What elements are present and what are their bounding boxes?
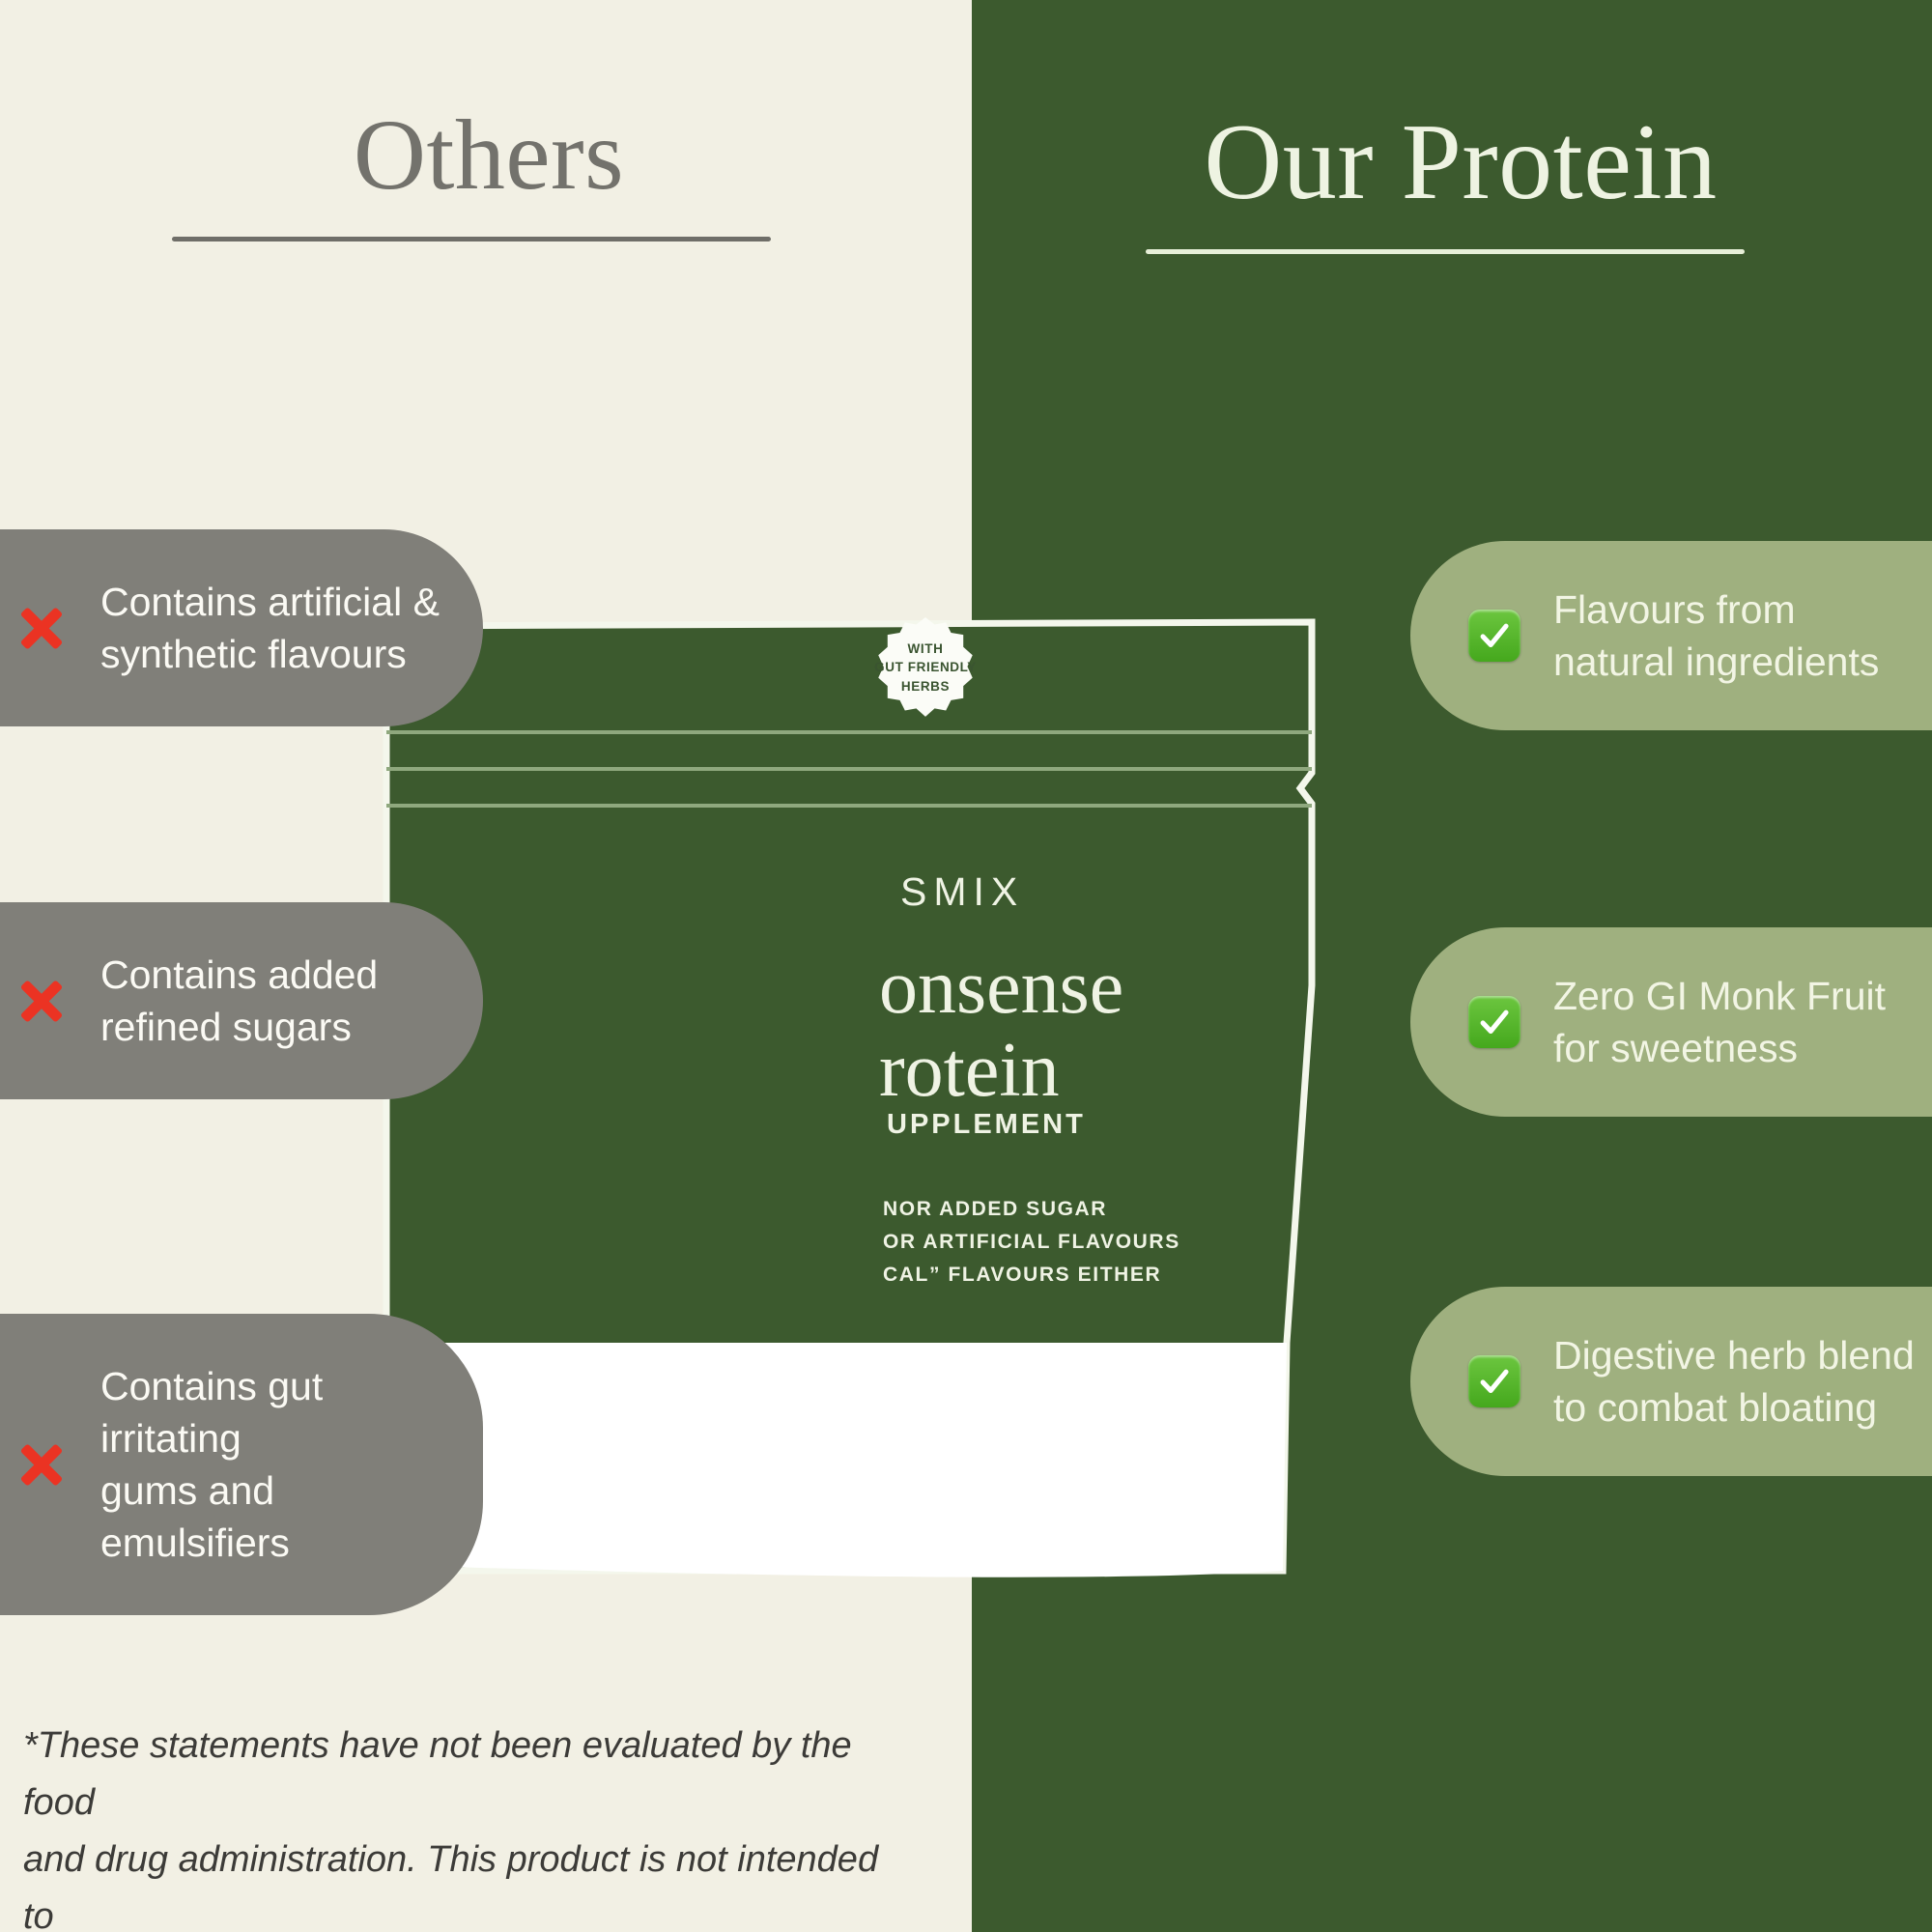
gut-friendly-herbs-badge: WITH GUT FRIENDLY HERBS: [874, 616, 977, 719]
left-feature-label-1: Contains artificial & synthetic flavours: [100, 576, 440, 680]
cross-icon: [14, 601, 68, 655]
pouch-product-title: onsense rotein: [879, 947, 1123, 1112]
left-feature-item-2[interactable]: Contains added refined sugars: [0, 902, 483, 1099]
check-icon: [1468, 1355, 1520, 1407]
disclaimer-text: *These statements have not been evaluate…: [23, 1718, 893, 1932]
pouch-subtitle: UPPLEMENT: [887, 1109, 1086, 1141]
cross-icon: [14, 1437, 68, 1492]
left-feature-label-2: Contains added refined sugars: [100, 949, 378, 1053]
pouch-brand-name: SMIX: [900, 869, 1024, 915]
right-feature-label-1: Flavours from natural ingredients: [1553, 583, 1879, 688]
left-feature-item-1[interactable]: Contains artificial & synthetic flavours: [0, 529, 483, 726]
right-feature-item-1[interactable]: Flavours from natural ingredients: [1410, 541, 1932, 730]
right-feature-item-3[interactable]: Digestive herb blend to combat bloating: [1410, 1287, 1932, 1476]
left-feature-label-3: Contains gut irritating gums and emulsif…: [100, 1360, 444, 1569]
cross-icon: [14, 974, 68, 1028]
protein-pouch: WITH GUT FRIENDLY HERBS SMIX onsense rot…: [908, 599, 1362, 1575]
comparison-infographic: Others Our Protein WITH GUT FRIENDLY HE: [0, 0, 1932, 1932]
right-feature-label-2: Zero GI Monk Fruit for sweetness: [1553, 970, 1886, 1074]
check-icon: [1468, 996, 1520, 1048]
right-feature-label-3: Digestive herb blend to combat bloating: [1553, 1329, 1915, 1434]
badge-text: WITH GUT FRIENDLY HERBS: [874, 639, 977, 696]
right-feature-item-2[interactable]: Zero GI Monk Fruit for sweetness: [1410, 927, 1932, 1117]
check-icon: [1468, 610, 1520, 662]
left-feature-item-3[interactable]: Contains gut irritating gums and emulsif…: [0, 1314, 483, 1615]
pouch-claims-list: NOR ADDED SUGAR OR ARTIFICIAL FLAVOURS C…: [883, 1193, 1180, 1292]
